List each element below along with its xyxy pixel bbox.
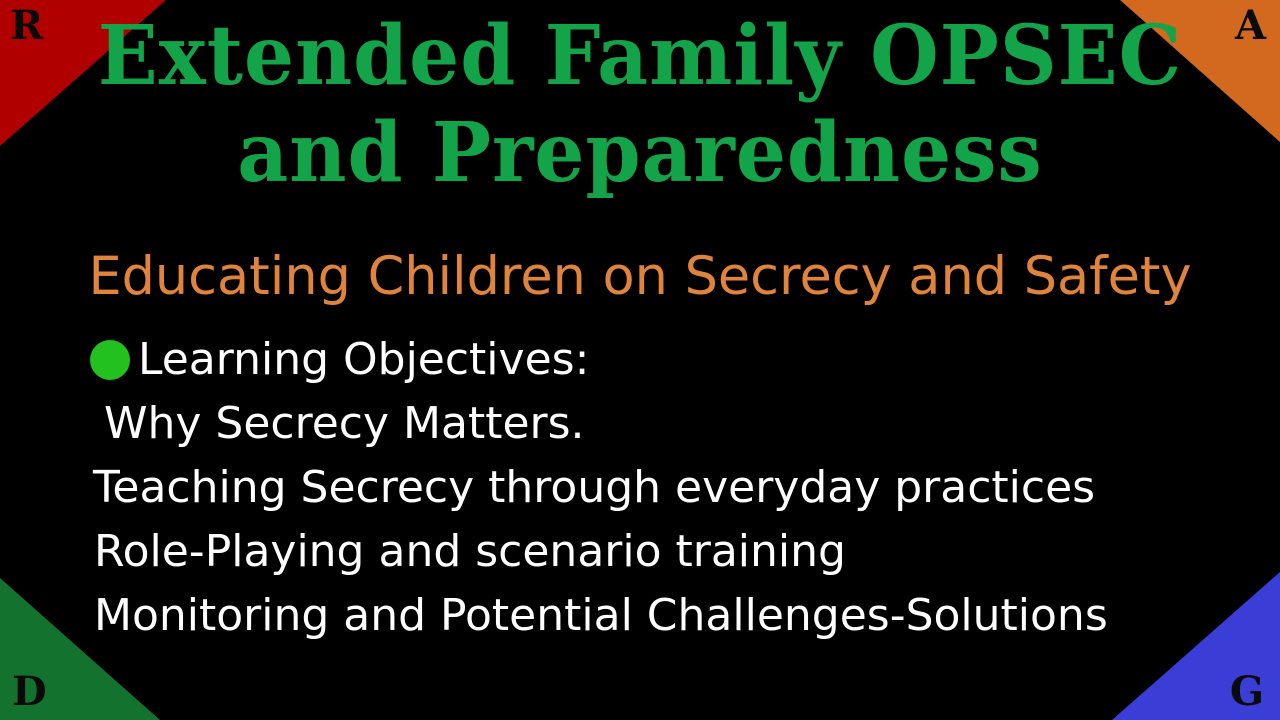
- objectives-list: Learning Objectives: Why Secrecy Matters…: [90, 328, 1200, 648]
- green-circle-bullet-icon: [90, 340, 130, 380]
- corner-letter-bottom-left: D: [12, 672, 47, 712]
- presentation-slide: R A D G Extended Family OPSEC and Prepar…: [0, 0, 1280, 720]
- list-item-label: Teaching Secrecy through everyday practi…: [93, 456, 1095, 520]
- list-item: Why Secrecy Matters.: [90, 392, 1200, 456]
- list-item-label: Learning Objectives:: [138, 328, 589, 392]
- list-item-label: Role-Playing and scenario training: [94, 520, 846, 584]
- slide-subtitle: Educating Children on Secrecy and Safety: [6, 248, 1273, 306]
- slide-title-line-1: Extended Family OPSEC: [26, 8, 1255, 105]
- slide-title: Extended Family OPSEC and Preparedness: [0, 8, 1280, 202]
- corner-letter-bottom-right: G: [1230, 672, 1264, 712]
- list-item-label: Why Secrecy Matters.: [104, 392, 585, 456]
- list-item-label: Monitoring and Potential Challenges-Solu…: [94, 584, 1108, 648]
- list-item: Role-Playing and scenario training: [90, 520, 1200, 584]
- list-item: Learning Objectives:: [90, 328, 1200, 392]
- list-item: Monitoring and Potential Challenges-Solu…: [90, 584, 1200, 648]
- slide-title-line-2: and Preparedness: [26, 105, 1255, 202]
- list-item: Teaching Secrecy through everyday practi…: [90, 456, 1200, 520]
